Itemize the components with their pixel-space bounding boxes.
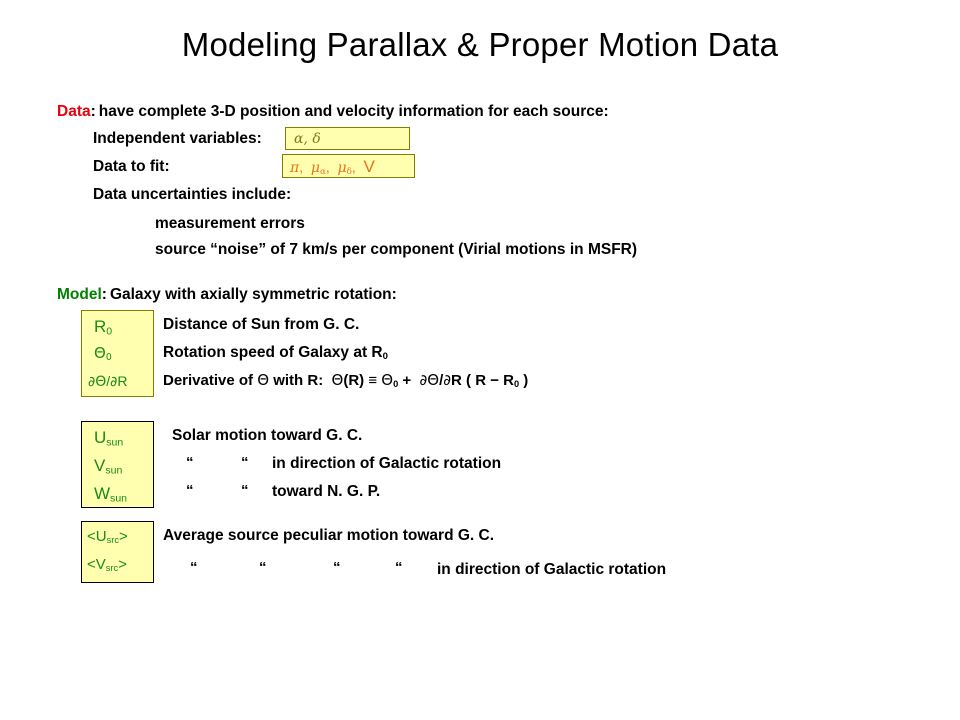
param-symbol-u-sun: Usun [94, 429, 123, 448]
param-description-dtheta-dr: Derivative of Θ with R: Θ(R) ≡ Θ0 + ∂Θ/∂… [163, 373, 528, 389]
ditto-mark: “ [241, 483, 249, 498]
ditto-mark: “ [259, 560, 267, 575]
data-keyword: Data [57, 103, 91, 120]
param-description-u-src: Average source peculiar motion toward G.… [163, 528, 494, 544]
param-symbol-r0: R0 [94, 318, 112, 337]
galaxy-parameters-box[interactable]: R0 Θ0 ∂Θ/∂R [81, 310, 154, 397]
param-description-v-src: in direction of Galactic rotation [437, 562, 666, 578]
uncertainty-item-source-noise: source “noise” of 7 km/s per component (… [155, 242, 637, 258]
ditto-mark: “ [186, 483, 194, 498]
solar-motion-box[interactable]: Usun Vsun Wsun [81, 421, 154, 508]
data-to-fit-box[interactable]: π, μα, μδ, V [282, 154, 415, 178]
param-description-v-sun: in direction of Galactic rotation [272, 456, 501, 472]
param-symbol-v-sun: Vsun [94, 457, 122, 476]
model-headline: Galaxy with axially symmetric rotation: [107, 286, 397, 303]
param-symbol-w-sun: Wsun [94, 485, 127, 504]
ditto-mark: “ [333, 560, 341, 575]
data-uncertainties-label: Data uncertainties include: [93, 187, 291, 203]
model-keyword: Model [57, 286, 102, 303]
param-description-w-sun: toward N. G. P. [272, 484, 380, 500]
param-symbol-dtheta-dr: ∂Θ/∂R [88, 374, 128, 389]
data-colon: : [91, 103, 96, 120]
independent-variables-box[interactable]: α, δ [285, 127, 410, 150]
ditto-mark: “ [241, 455, 249, 470]
param-symbol-u-src: <Usrc> [87, 529, 128, 545]
slide-canvas: Modeling Parallax & Proper Motion Data D… [0, 0, 960, 720]
param-description-r0: Distance of Sun from G. C. [163, 317, 359, 333]
source-peculiar-motion-box[interactable]: <Usrc> <Vsrc> [81, 521, 154, 583]
data-to-fit-label: Data to fit: [93, 159, 170, 175]
data-to-fit-symbols: π, μα, μδ, V [290, 158, 375, 177]
slide-title: Modeling Parallax & Proper Motion Data [0, 26, 960, 64]
param-symbol-v-src: <Vsrc> [87, 557, 127, 573]
independent-variables-symbols: α, δ [294, 132, 321, 146]
param-description-theta0: Rotation speed of Galaxy at R0 [163, 345, 388, 362]
data-headline-row: Data:have complete 3-D position and velo… [57, 104, 609, 120]
data-headline: have complete 3-D position and velocity … [96, 103, 609, 120]
param-symbol-theta0: Θ0 [94, 346, 112, 362]
ditto-mark: “ [186, 455, 194, 470]
uncertainty-item-measurement-errors: measurement errors [155, 216, 305, 232]
param-description-u-sun: Solar motion toward G. C. [172, 428, 362, 444]
independent-variables-label: Independent variables: [93, 131, 262, 147]
model-headline-row: Model:Galaxy with axially symmetric rota… [57, 287, 397, 303]
ditto-mark: “ [395, 560, 403, 575]
ditto-mark: “ [190, 560, 198, 575]
